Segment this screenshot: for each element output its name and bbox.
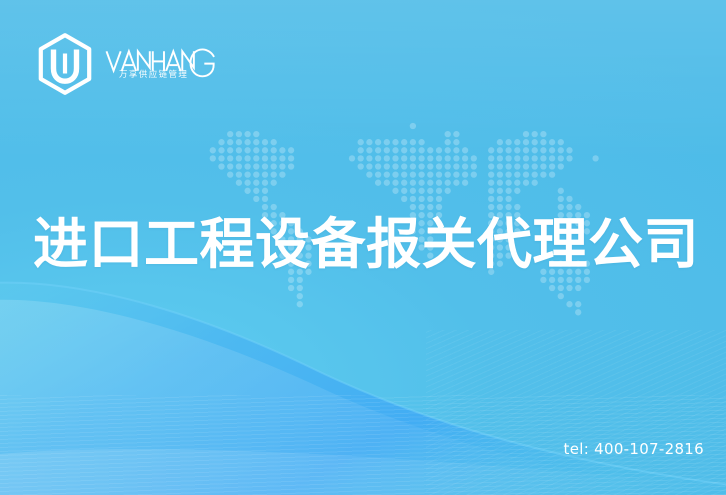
page-title: 进口工程设备报关代理公司 (33, 209, 709, 279)
hexagon-u-mark-icon (36, 33, 94, 95)
contact-phone[interactable]: tel: 400-107-2816 (564, 440, 704, 458)
company-logo[interactable]: 万享供应链管理 (36, 33, 217, 95)
logo-subtitle: 万享供应链管理 (119, 68, 188, 80)
logo-text-block: 万享供应链管理 (105, 39, 217, 89)
promo-banner: 万享供应链管理 进口工程设备报关代理公司 tel: 400-107-2816 (0, 0, 726, 495)
